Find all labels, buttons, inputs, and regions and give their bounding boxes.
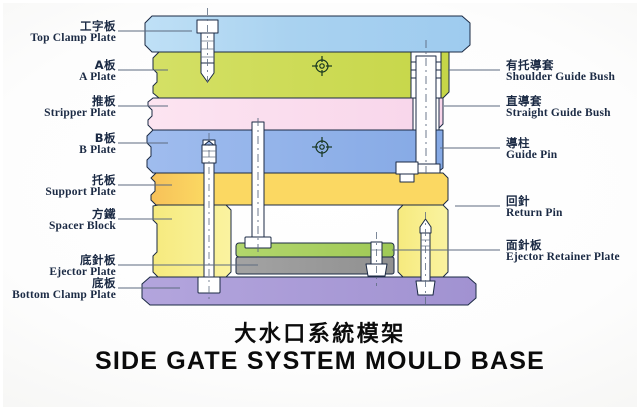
mould-base-diagram: 工字板 Top Clamp Plate A板 A Plate 推板 Stripp… [0, 0, 640, 410]
label-shoulder-guide-bush-en: Shoulder Guide Bush [506, 71, 615, 83]
top-clamp-plate [145, 16, 470, 52]
diagram-title-english: SIDE GATE SYSTEM MOULD BASE [0, 347, 640, 376]
label-guide-pin-en: Guide Pin [506, 149, 557, 161]
label-top-clamp-plate: 工字板 Top Clamp Plate [0, 20, 116, 45]
label-spacer-block: 方鐵 Spacer Block [0, 208, 116, 233]
label-a-plate-en: A Plate [0, 71, 116, 83]
label-guide-pin: 導柱 Guide Pin [506, 137, 557, 162]
diagram-title-chinese: 大水口系統模架 [0, 316, 640, 348]
label-straight-guide-bush-cn: 直導套 [506, 95, 611, 107]
label-top-clamp-plate-cn: 工字板 [0, 20, 116, 32]
label-return-pin-cn: 回針 [506, 195, 563, 207]
label-spacer-block-en: Spacer Block [0, 220, 116, 232]
label-a-plate-cn: A板 [0, 59, 116, 71]
label-spacer-block-cn: 方鐵 [0, 208, 116, 220]
label-shoulder-guide-bush: 有托導套 Shoulder Guide Bush [506, 59, 615, 84]
label-a-plate: A板 A Plate [0, 59, 116, 84]
spacer-block [153, 205, 231, 277]
label-bottom-clamp-plate-en: Bottom Clamp Plate [0, 289, 116, 301]
label-straight-guide-bush: 直導套 Straight Guide Bush [506, 95, 611, 120]
label-bottom-clamp-plate-cn: 底板 [0, 277, 116, 289]
label-support-plate-cn: 托板 [0, 174, 116, 186]
label-ejector-retainer-plate-en: Ejector Retainer Plate [506, 251, 620, 263]
label-return-pin: 回針 Return Pin [506, 195, 563, 220]
label-stripper-plate-en: Stripper Plate [0, 107, 116, 119]
label-straight-guide-bush-en: Straight Guide Bush [506, 107, 611, 119]
label-b-plate: B板 B Plate [0, 132, 116, 157]
label-support-plate-en: Support Plate [0, 186, 116, 198]
label-bottom-clamp-plate: 底板 Bottom Clamp Plate [0, 277, 116, 302]
label-return-pin-en: Return Pin [506, 207, 563, 219]
label-stripper-plate-cn: 推板 [0, 95, 116, 107]
label-ejector-plate-cn: 底針板 [0, 254, 116, 266]
label-ejector-retainer-plate: 面針板 Ejector Retainer Plate [506, 239, 620, 264]
label-stripper-plate: 推板 Stripper Plate [0, 95, 116, 120]
label-ejector-retainer-plate-cn: 面針板 [506, 239, 620, 251]
label-top-clamp-plate-en: Top Clamp Plate [0, 32, 116, 44]
label-shoulder-guide-bush-cn: 有托導套 [506, 59, 615, 71]
label-support-plate: 托板 Support Plate [0, 174, 116, 199]
a-plate [153, 52, 449, 98]
label-guide-pin-cn: 導柱 [506, 137, 557, 149]
guide-pin [416, 56, 436, 164]
label-b-plate-en: B Plate [0, 144, 116, 156]
label-b-plate-cn: B板 [0, 132, 116, 144]
stripper-plate [148, 98, 443, 130]
